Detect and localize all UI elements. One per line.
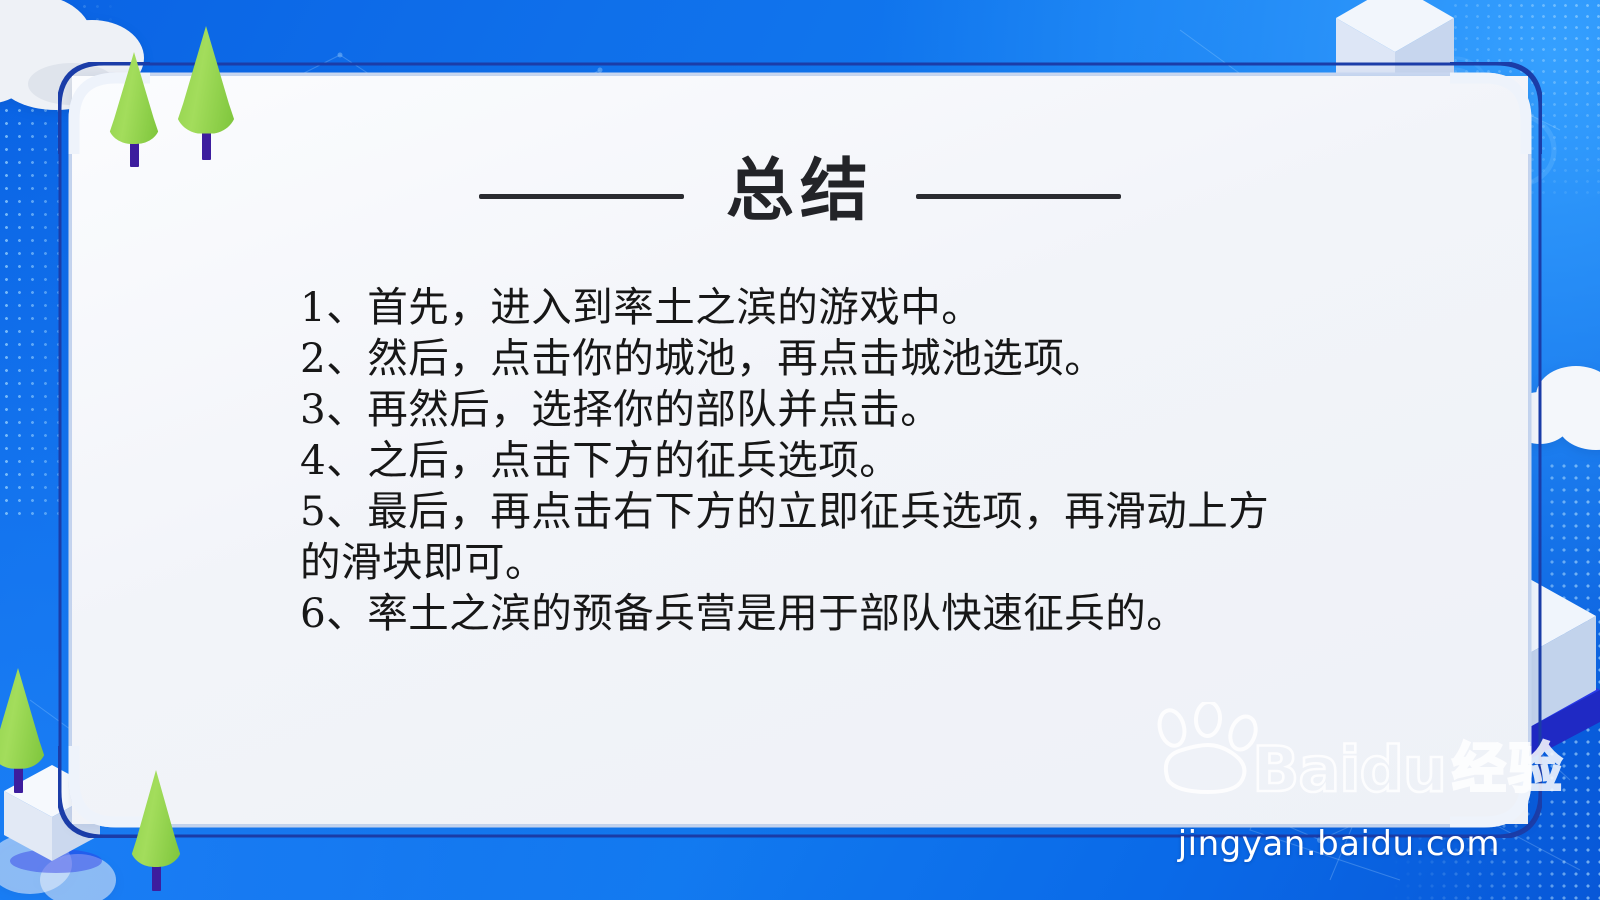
title-rule-right-icon (916, 194, 1121, 199)
list-item: 2、然后，点击你的城池，再点击城池选项。 (300, 333, 1300, 384)
summary-steps-list: 1、首先，进入到率土之滨的游戏中。 2、然后，点击你的城池，再点击城池选项。 3… (300, 282, 1300, 639)
page-title: 总结 (726, 158, 874, 226)
tree-bottom-left-icon (130, 770, 182, 886)
list-item: 3、再然后，选择你的部队并点击。 (300, 384, 1300, 435)
list-item: 6、率土之滨的预备兵营是用于部队快速征兵的。 (300, 588, 1300, 639)
list-item: 5、最后，再点击右下方的立即征兵选项，再滑动上方的滑块即可。 (300, 486, 1300, 588)
tree-top-left-a-icon (108, 52, 160, 162)
title-row: 总结 (132, 148, 1468, 244)
tree-left-mid-icon (0, 668, 46, 788)
summary-panel: 总结 1、首先，进入到率土之滨的游戏中。 2、然后，点击你的城池，再点击城池选项… (72, 76, 1528, 824)
list-item: 4、之后，点击下方的征兵选项。 (300, 435, 1300, 486)
title-rule-left-icon (479, 194, 684, 199)
tree-top-left-b-icon (176, 26, 236, 154)
list-item: 1、首先，进入到率土之滨的游戏中。 (300, 282, 1300, 333)
